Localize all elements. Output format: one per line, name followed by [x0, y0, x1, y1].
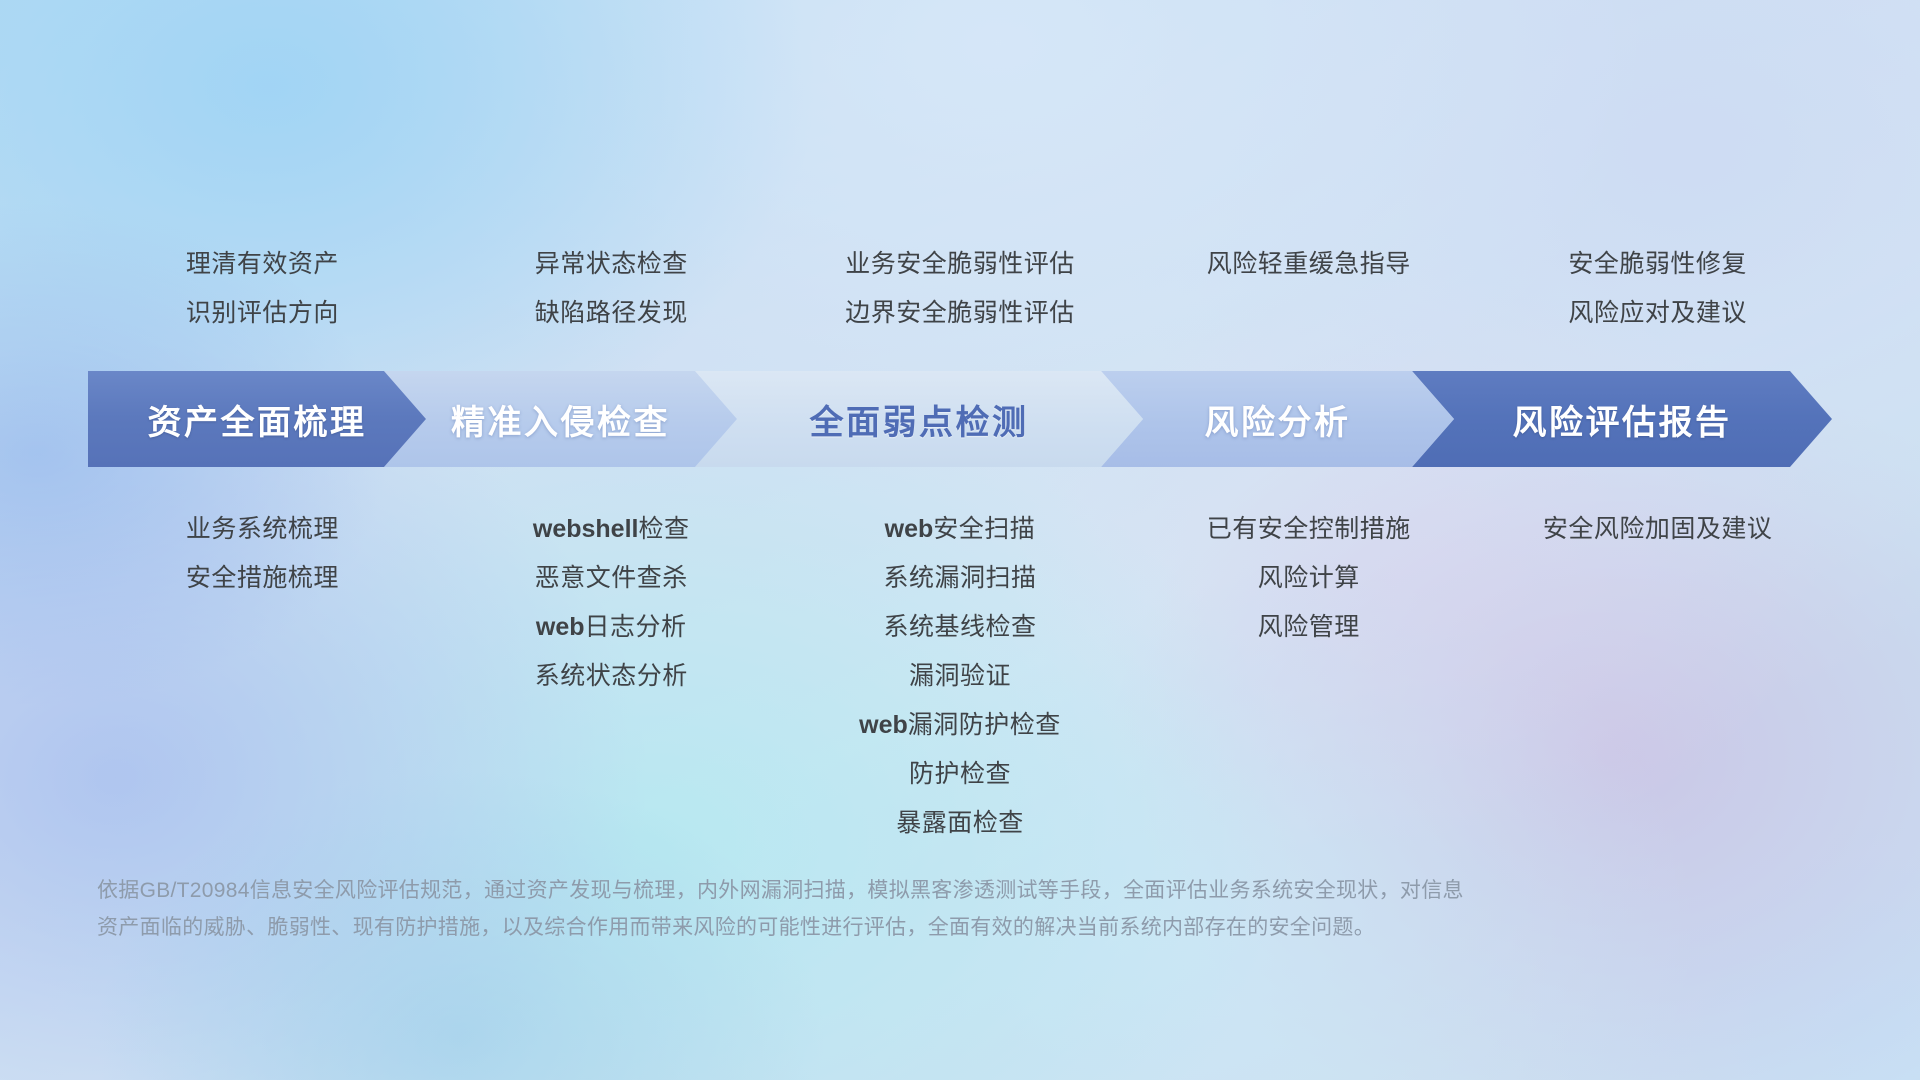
top-list-weakness-detection: 业务安全脆弱性评估 边界安全脆弱性评估 — [786, 238, 1135, 338]
bottom-list-item: 风险计算 — [1134, 554, 1483, 603]
bottom-list-intrusion-check: webshell检查 恶意文件查杀 web日志分析 系统状态分析 — [437, 505, 786, 848]
bottom-item-zh: 恶意文件查杀 — [535, 564, 688, 592]
chevron-label: 风险评估报告 — [1513, 395, 1732, 444]
bottom-item-zh: 风险管理 — [1258, 613, 1360, 641]
bottom-item-zh: 业务系统梳理 — [186, 515, 339, 543]
bottom-item-en: web — [859, 711, 908, 739]
footer-description: 依据GB/T20984信息安全风险评估规范，通过资产发现与梳理，内外网漏洞扫描，… — [97, 872, 1597, 946]
bottom-item-en: webshell — [533, 515, 639, 543]
bottom-list-item: web安全扫描 — [786, 505, 1135, 554]
bottom-list-item: 风险管理 — [1134, 603, 1483, 652]
chevron-stage-asset-inventory[interactable]: 资产全面梳理 — [88, 371, 426, 467]
process-chevron-band: 资产全面梳理 精准入侵检查 全面弱点检测 风险分析 风险评估报告 — [88, 371, 1832, 467]
bottom-list-risk-analysis: 已有安全控制措施 风险计算 风险管理 — [1134, 505, 1483, 848]
top-feature-lists: 理清有效资产 识别评估方向 异常状态检查 缺陷路径发现 业务安全脆弱性评估 边界… — [88, 238, 1832, 338]
bottom-item-zh: 漏洞验证 — [909, 662, 1011, 690]
top-list-item: 风险轻重缓急指导 — [1134, 240, 1483, 289]
chevron-stage-risk-analysis[interactable]: 风险分析 — [1101, 371, 1454, 467]
bottom-item-en: web — [536, 613, 585, 641]
bottom-list-weakness-detection: web安全扫描 系统漏洞扫描 系统基线检查 漏洞验证 web漏洞防护检查 防护检… — [786, 505, 1135, 848]
bottom-list-item: 业务系统梳理 — [88, 505, 437, 554]
bottom-list-item: 系统漏洞扫描 — [786, 554, 1135, 603]
bottom-list-item: web漏洞防护检查 — [786, 701, 1135, 750]
footer-line-1: 依据GB/T20984信息安全风险评估规范，通过资产发现与梳理，内外网漏洞扫描，… — [97, 872, 1597, 909]
bottom-list-item: 系统基线检查 — [786, 603, 1135, 652]
chevron-label: 资产全面梳理 — [148, 395, 367, 444]
bottom-list-item: 防护检查 — [786, 750, 1135, 799]
top-list-item: 异常状态检查 — [437, 240, 786, 289]
bottom-list-item: web日志分析 — [437, 603, 786, 652]
bottom-item-zh: 防护检查 — [909, 760, 1011, 788]
bottom-list-item: 安全措施梳理 — [88, 554, 437, 603]
bottom-list-asset-inventory: 业务系统梳理 安全措施梳理 — [88, 505, 437, 848]
top-list-item: 理清有效资产 — [88, 240, 437, 289]
chevron-label: 精准入侵检查 — [451, 395, 670, 444]
bottom-list-item: webshell检查 — [437, 505, 786, 554]
bottom-list-item: 恶意文件查杀 — [437, 554, 786, 603]
top-list-item: 识别评估方向 — [88, 289, 437, 338]
bottom-list-item: 安全风险加固及建议 — [1483, 505, 1832, 554]
bottom-list-item: 系统状态分析 — [437, 652, 786, 701]
bottom-list-item: 漏洞验证 — [786, 652, 1135, 701]
bottom-list-item: 暴露面检查 — [786, 799, 1135, 848]
chevron-label: 全面弱点检测 — [810, 395, 1029, 444]
bottom-item-zh: 日志分析 — [585, 613, 687, 641]
bottom-item-zh: 检查 — [638, 515, 689, 543]
top-list-item: 缺陷路径发现 — [437, 289, 786, 338]
bottom-item-zh: 安全措施梳理 — [186, 564, 339, 592]
top-list-assessment-report: 安全脆弱性修复 风险应对及建议 — [1483, 238, 1832, 338]
bottom-item-zh: 系统状态分析 — [535, 662, 688, 690]
bottom-item-zh: 暴露面检查 — [896, 809, 1024, 837]
bottom-list-assessment-report: 安全风险加固及建议 — [1483, 505, 1832, 848]
bottom-feature-lists: 业务系统梳理 安全措施梳理 webshell检查 恶意文件查杀 web日志分析 … — [88, 505, 1832, 848]
bottom-item-zh: 漏洞防护检查 — [908, 711, 1061, 739]
top-list-item: 边界安全脆弱性评估 — [786, 289, 1135, 338]
bottom-item-zh: 系统基线检查 — [883, 613, 1036, 641]
footer-line-2: 资产面临的威胁、脆弱性、现有防护措施，以及综合作用而带来风险的可能性进行评估，全… — [97, 909, 1597, 946]
chevron-stage-weakness-detection[interactable]: 全面弱点检测 — [695, 371, 1143, 467]
bottom-item-en: web — [885, 515, 934, 543]
bottom-item-zh: 风险计算 — [1258, 564, 1360, 592]
bottom-item-zh: 安全风险加固及建议 — [1543, 515, 1773, 543]
top-list-item: 业务安全脆弱性评估 — [786, 240, 1135, 289]
top-list-item: 安全脆弱性修复 — [1483, 240, 1832, 289]
top-list-risk-analysis: 风险轻重缓急指导 — [1134, 238, 1483, 338]
bottom-item-zh: 已有安全控制措施 — [1207, 515, 1411, 543]
chevron-label: 风险分析 — [1205, 395, 1351, 444]
bottom-list-item: 已有安全控制措施 — [1134, 505, 1483, 554]
top-list-intrusion-check: 异常状态检查 缺陷路径发现 — [437, 238, 786, 338]
bottom-item-zh: 安全扫描 — [933, 515, 1035, 543]
process-diagram: 理清有效资产 识别评估方向 异常状态检查 缺陷路径发现 业务安全脆弱性评估 边界… — [0, 0, 1920, 1080]
top-list-item: 风险应对及建议 — [1483, 289, 1832, 338]
chevron-stage-intrusion-check[interactable]: 精准入侵检查 — [384, 371, 737, 467]
chevron-stage-assessment-report[interactable]: 风险评估报告 — [1412, 371, 1832, 467]
bottom-item-zh: 系统漏洞扫描 — [883, 564, 1036, 592]
top-list-asset-inventory: 理清有效资产 识别评估方向 — [88, 238, 437, 338]
